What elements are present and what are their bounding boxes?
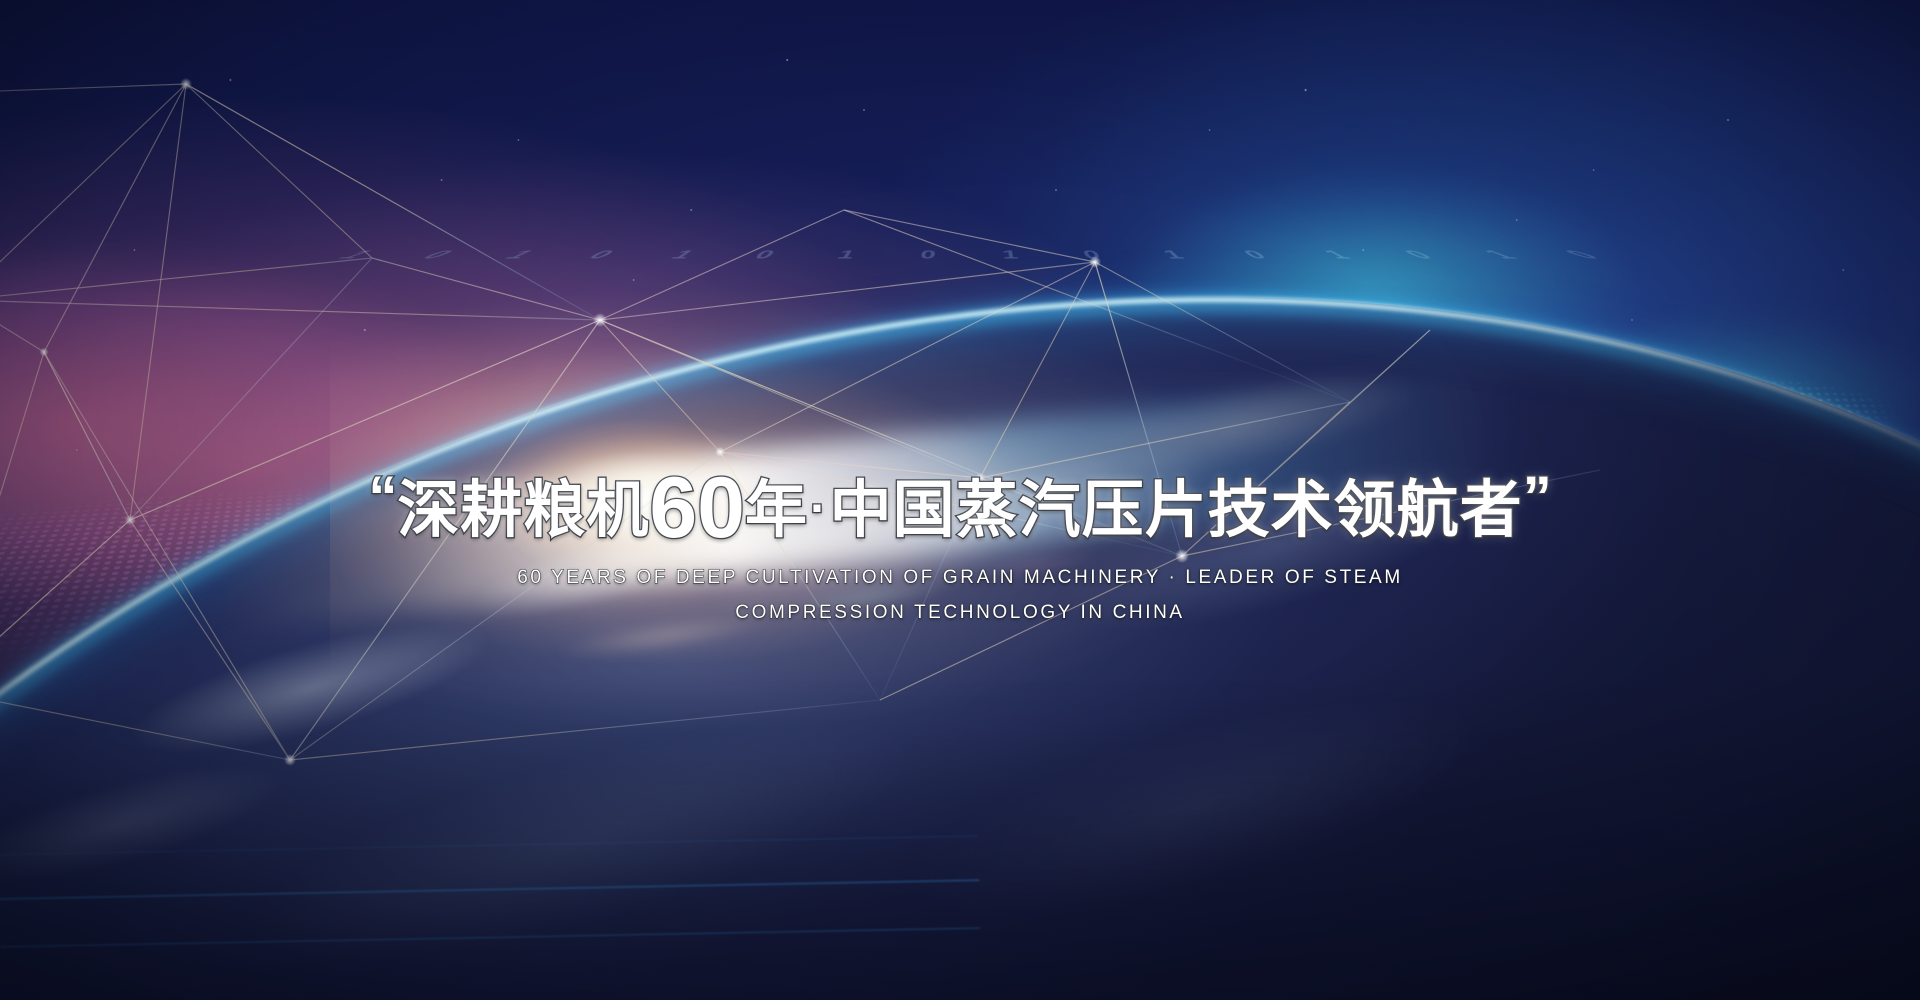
title-segment-1: 深耕粮机	[397, 476, 649, 545]
closing-quote-mark: ”	[1523, 465, 1552, 530]
horizontal-scan-lines	[0, 811, 982, 1000]
title-segment-3: 中国蒸汽压片技术领航者	[830, 476, 1523, 545]
subtitle-line-1: 60 YEARS OF DEEP CULTIVATION OF GRAIN MA…	[0, 567, 1920, 589]
subtitle-line-2: COMPRESSION TECHNOLOGY IN CHINA	[0, 602, 1920, 624]
banner-canvas: 1 0 1 0 1 0 1 0 1 0 1 0 1 0 1 0	[0, 0, 1920, 1000]
title-segment-2: 年	[745, 476, 808, 545]
headline-block: “深耕粮机60年·中国蒸汽压片技术领航者” 60 YEARS OF DEEP C…	[0, 468, 1920, 624]
opening-quote-mark: “	[368, 465, 397, 530]
title-separator-dot: ·	[808, 480, 830, 536]
title-years-number: 60	[649, 460, 745, 556]
page-title: “深耕粮机60年·中国蒸汽压片技术领航者”	[0, 468, 1920, 547]
